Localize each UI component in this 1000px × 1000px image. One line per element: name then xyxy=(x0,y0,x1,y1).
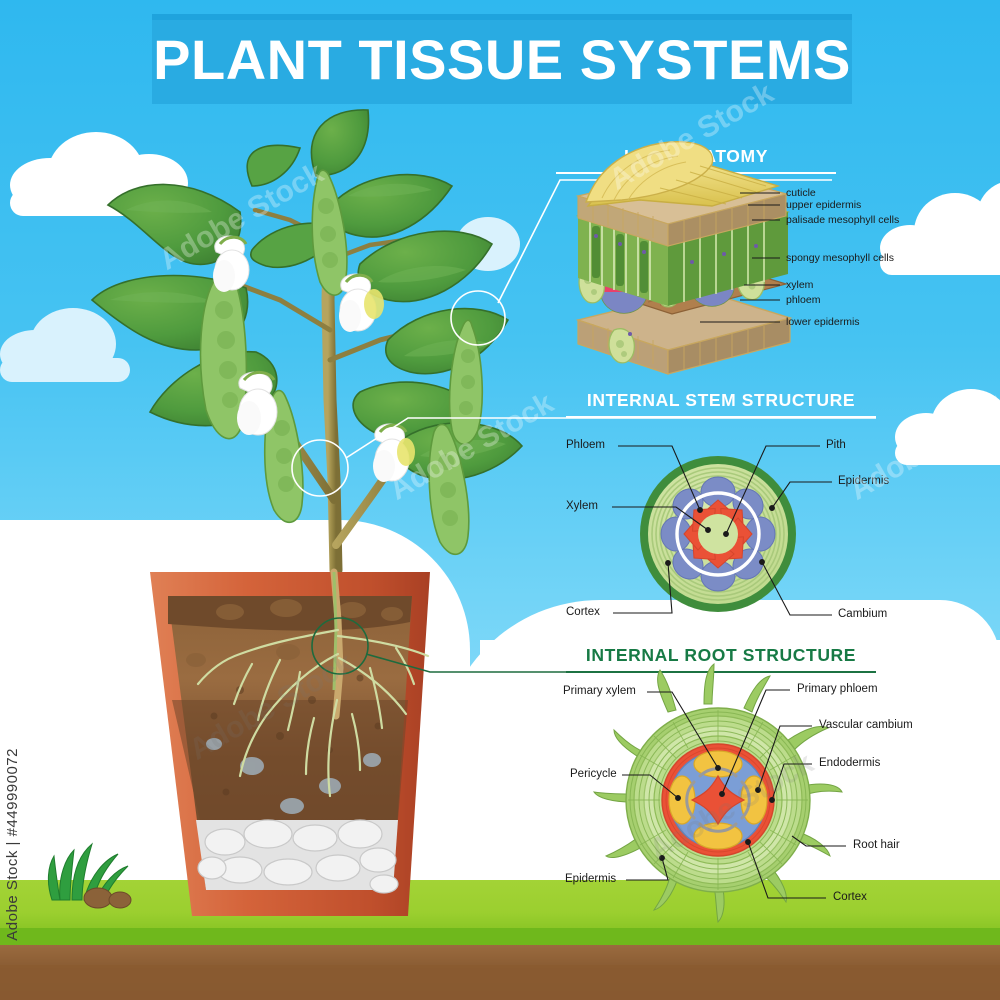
stem-label-pith: Pith xyxy=(826,439,846,451)
soil-dark-band xyxy=(0,965,1000,1000)
watermark-vertical-id: Adobe Stock | #449990072 xyxy=(4,748,21,941)
stem-heading-rule xyxy=(566,416,876,418)
root-label-primary-phloem: Primary phloem xyxy=(797,683,878,695)
leaf-label-phloem: phloem xyxy=(786,294,820,306)
leaf-label-lower-epidermis: lower epidermis xyxy=(786,316,860,328)
leaf-label-upper-epidermis: upper epidermis xyxy=(786,199,861,211)
root-heading-text: INTERNAL ROOT STRUCTURE xyxy=(566,645,876,666)
leaf-label-spongy-mesophyll: spongy mesophyll cells xyxy=(786,252,894,264)
root-heading-rule xyxy=(566,671,876,673)
stem-section-heading: INTERNAL STEM STRUCTURE xyxy=(566,390,876,418)
leaf-label-xylem: xylem xyxy=(786,279,813,291)
leaf-label-palisade-mesophyll: palisade mesophyll cells xyxy=(786,214,899,226)
root-label-root-hair: Root hair xyxy=(853,839,900,851)
root-section-heading: INTERNAL ROOT STRUCTURE xyxy=(566,645,876,673)
root-label-vascular-cambium: Vascular cambium xyxy=(819,719,913,731)
banner-top-accent xyxy=(152,14,852,20)
root-label-endodermis: Endodermis xyxy=(819,757,880,769)
leaf-label-cuticle: cuticle xyxy=(786,187,816,199)
leaf-heading-rule xyxy=(556,172,836,174)
stem-label-cortex: Cortex xyxy=(566,606,600,618)
page-title: PLANT TISSUE SYSTEMS xyxy=(153,27,851,92)
stem-label-xylem: Xylem xyxy=(566,500,598,512)
stem-label-cambium: Cambium xyxy=(838,608,887,620)
root-label-pericycle: Pericycle xyxy=(570,768,617,780)
root-label-cortex: Cortex xyxy=(833,891,867,903)
stem-label-phloem: Phloem xyxy=(566,439,605,451)
root-label-epidermis: Epidermis xyxy=(565,873,616,885)
stem-heading-text: INTERNAL STEM STRUCTURE xyxy=(566,390,876,411)
white-backdrop-bottomright xyxy=(480,640,1000,890)
root-label-primary-xylem: Primary xylem xyxy=(563,685,636,697)
